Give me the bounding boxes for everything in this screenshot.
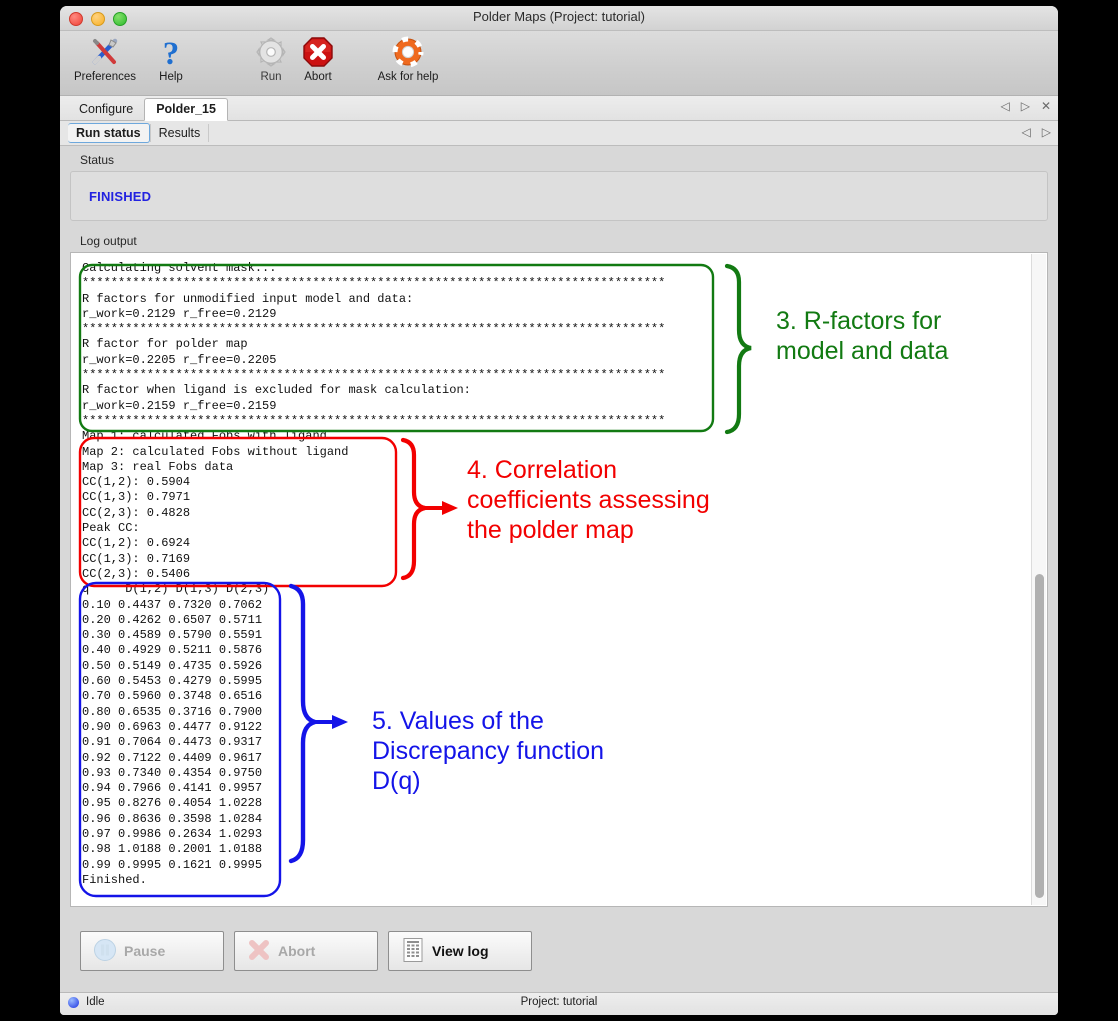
view-log-button[interactable]: View log [388, 931, 532, 971]
annotation-4-text: 4. Correlation coefficients assessing th… [467, 455, 710, 545]
annotation-4-line-1: 4. Correlation [467, 455, 710, 485]
pause-button-label: Pause [124, 943, 165, 959]
main-toolbar: Preferences ? Help [60, 31, 1058, 96]
document-grid-icon [401, 937, 425, 966]
toolbar-label-preferences: Preferences [68, 71, 142, 83]
pause-icon [93, 938, 117, 965]
tab-run-status[interactable]: Run status [68, 123, 150, 143]
log-section-label: Log output [80, 234, 1048, 248]
tab-configure[interactable]: Configure [68, 99, 144, 120]
abort-button-label: Abort [278, 943, 315, 959]
tab-results[interactable]: Results [150, 124, 209, 142]
status-section-label: Status [80, 153, 1048, 167]
status-bar: Idle Project: tutorial [60, 992, 1058, 1015]
tab-polder-15[interactable]: Polder_15 [144, 98, 228, 121]
annotation-4-line-2: coefficients assessing [467, 485, 710, 515]
annotation-3-line-2: model and data [776, 336, 948, 366]
inner-tab-bar: Run status Results ◁ ▷ [60, 121, 1058, 146]
toolbar-button-preferences[interactable]: Preferences [68, 34, 142, 83]
status-badge: FINISHED [89, 189, 151, 204]
annotation-4-line-3: the polder map [467, 515, 710, 545]
toolbar-label-help: Help [134, 71, 208, 83]
question-mark-icon: ? [134, 34, 208, 70]
stop-octagon-x-icon [281, 34, 355, 70]
status-section: Status FINISHED Log output [60, 153, 1058, 248]
toolbar-label-ask-for-help: Ask for help [360, 71, 456, 83]
action-button-row: Pause Abort [80, 931, 532, 971]
toolbar-button-abort[interactable]: Abort [281, 34, 355, 83]
tab-next-icon[interactable]: ▷ [1021, 99, 1030, 113]
toolbar-label-abort: Abort [281, 71, 355, 83]
annotation-3-line-1: 3. R-factors for [776, 306, 948, 336]
close-icon[interactable]: ✕ [1041, 99, 1051, 113]
window-title: Polder Maps (Project: tutorial) [60, 9, 1058, 24]
pause-button[interactable]: Pause [80, 931, 224, 971]
toolbar-button-ask-for-help[interactable]: Ask for help [360, 34, 456, 83]
tab-prev-icon[interactable]: ◁ [1000, 99, 1009, 113]
toolbar-button-help[interactable]: ? Help [134, 34, 208, 83]
status-box: FINISHED [70, 171, 1048, 221]
view-log-button-label: View log [432, 943, 489, 959]
annotation-3-text: 3. R-factors for model and data [776, 306, 948, 366]
status-bar-project-text: Project: tutorial [60, 996, 1058, 1008]
x-cross-icon [247, 938, 271, 965]
svg-text:?: ? [163, 36, 180, 69]
annotation-5-line-2: Discrepancy function [372, 736, 604, 766]
annotation-5-line-3: D(q) [372, 766, 604, 796]
log-scrollbar[interactable] [1031, 254, 1046, 905]
inner-tab-prev-icon[interactable]: ◁ [1022, 125, 1031, 139]
log-scrollbar-thumb[interactable] [1035, 574, 1044, 898]
lifebuoy-icon [360, 34, 456, 70]
abort-button[interactable]: Abort [234, 931, 378, 971]
title-bar: Polder Maps (Project: tutorial) [60, 6, 1058, 31]
outer-tab-bar: Configure Polder_15 ◁ ▷ ✕ [60, 96, 1058, 121]
annotation-5-text: 5. Values of the Discrepancy function D(… [372, 706, 604, 796]
preferences-tools-icon [68, 34, 142, 70]
annotation-5-line-1: 5. Values of the [372, 706, 604, 736]
inner-tab-next-icon[interactable]: ▷ [1042, 125, 1051, 139]
